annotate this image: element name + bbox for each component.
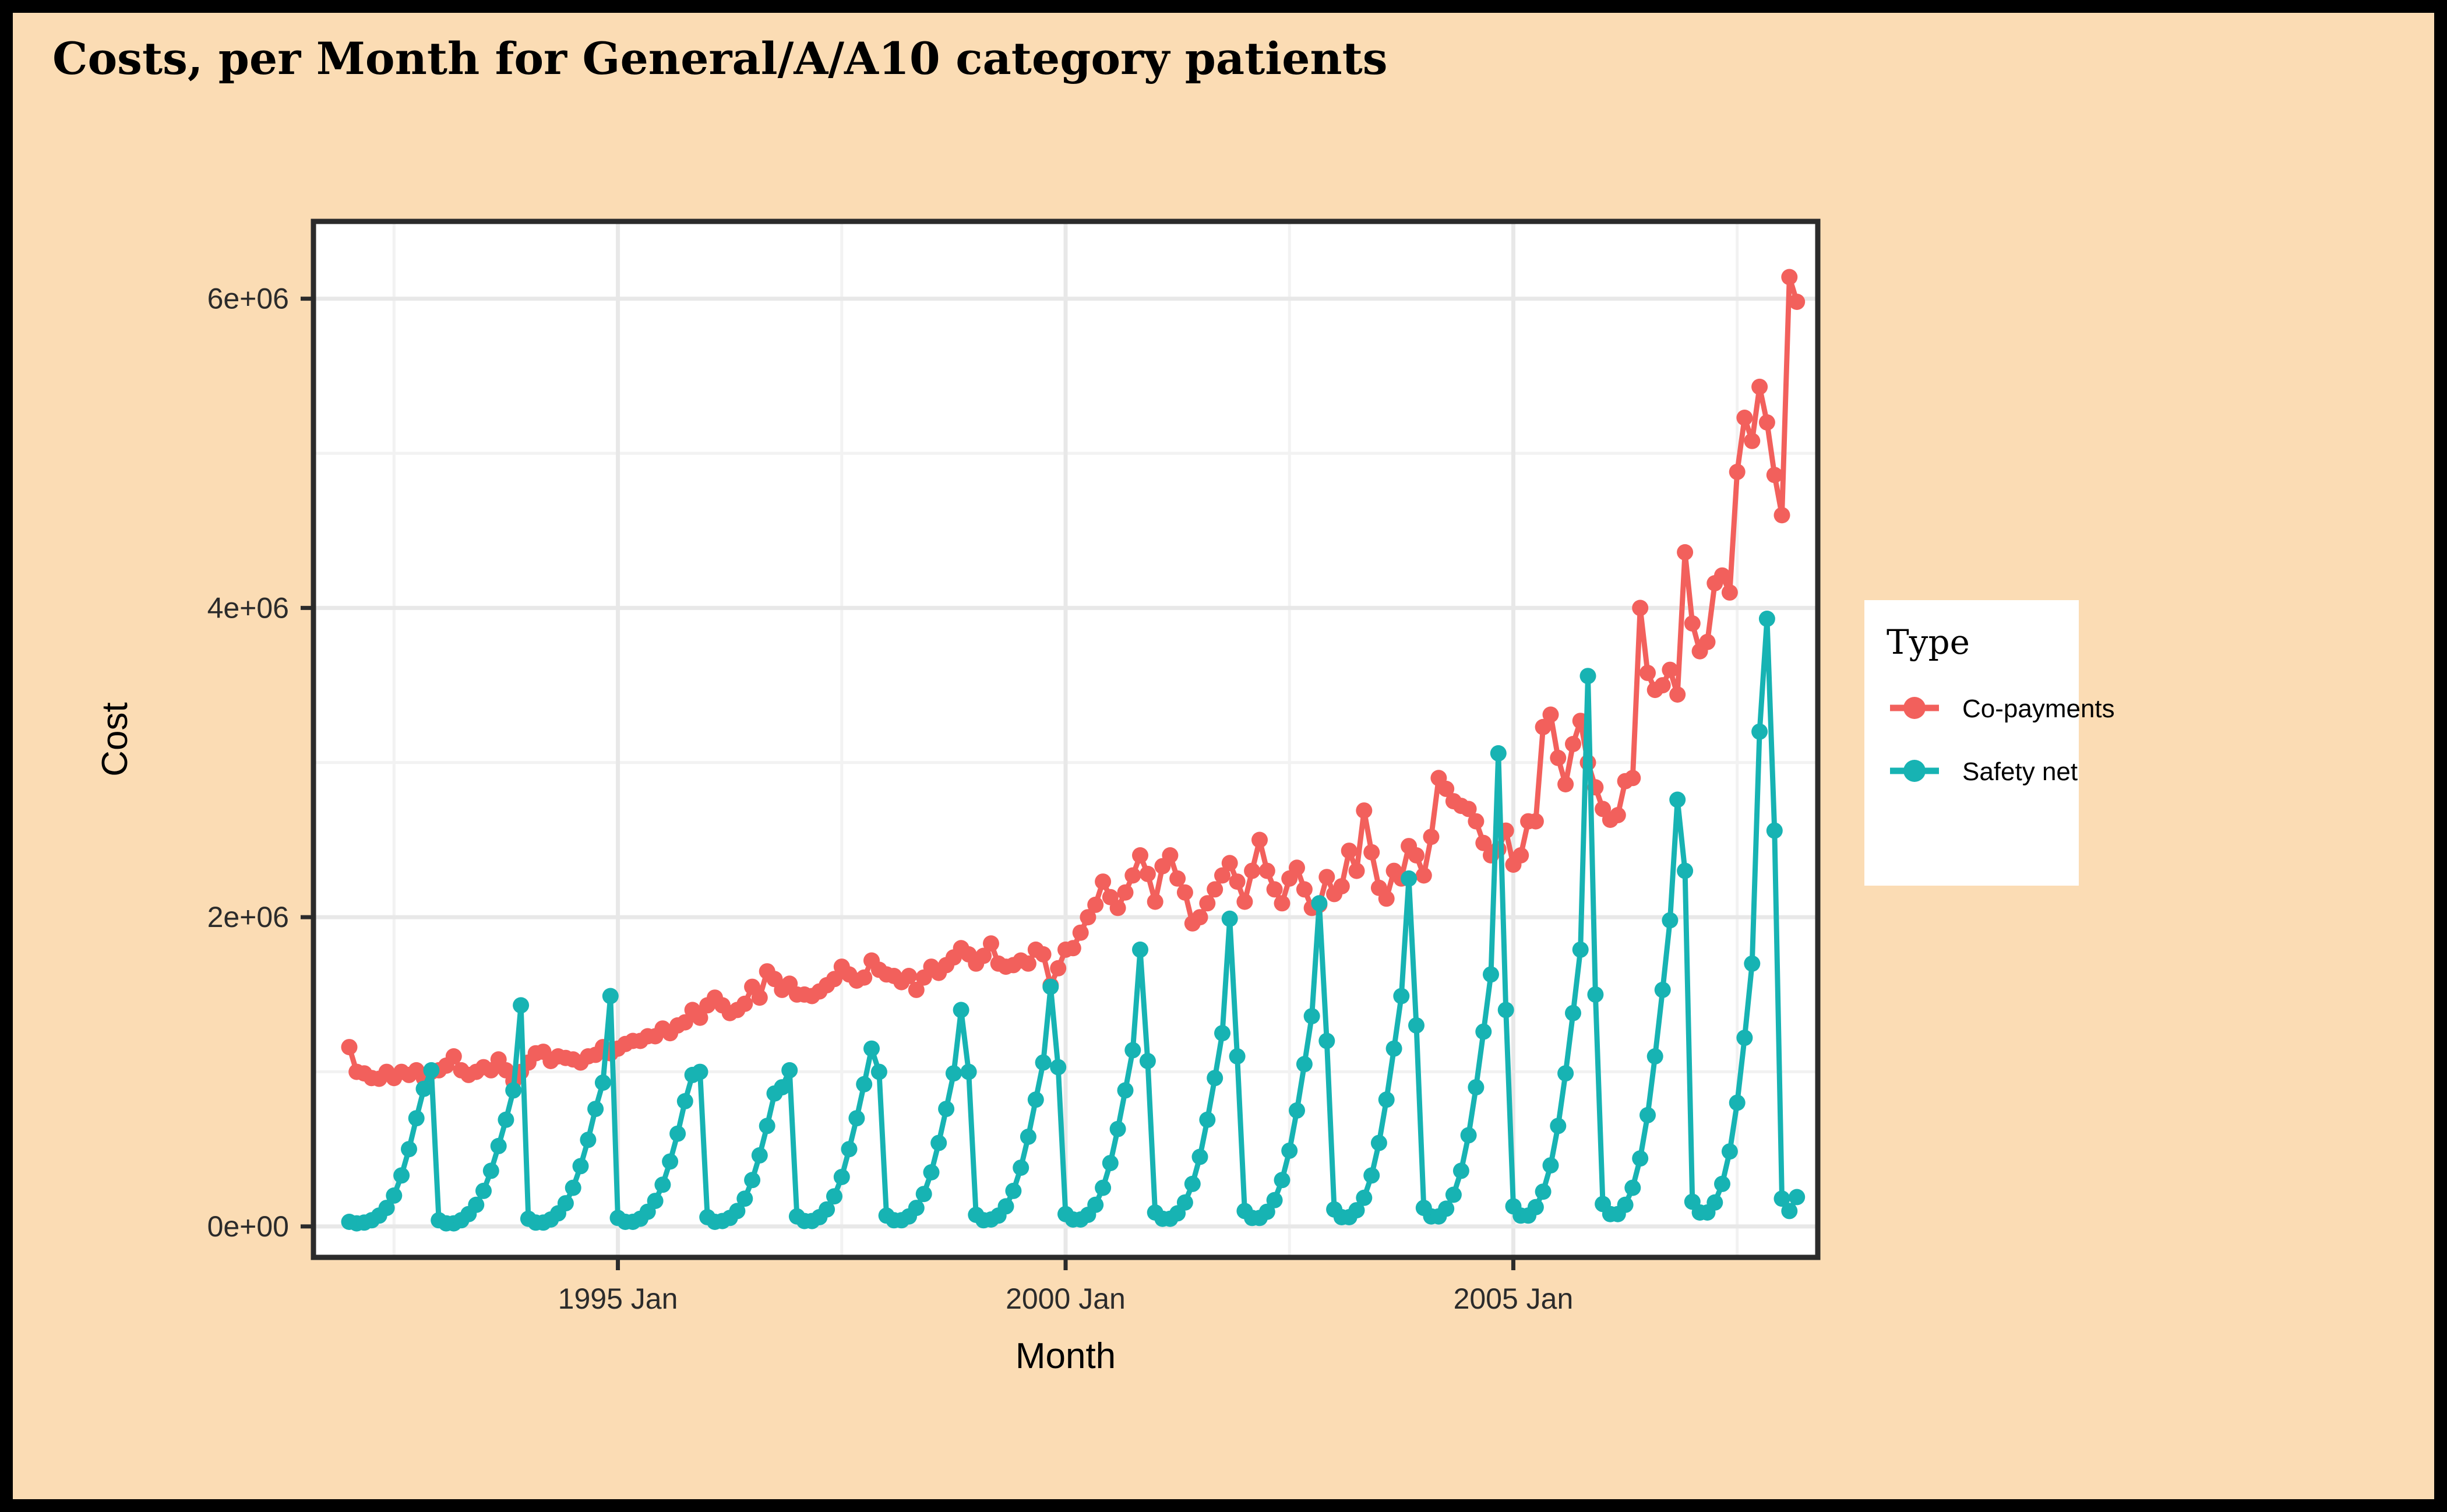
data-point <box>1073 925 1089 941</box>
data-point <box>1722 1143 1738 1159</box>
data-point <box>1356 1190 1372 1206</box>
data-point <box>446 1048 462 1065</box>
data-point <box>587 1101 604 1117</box>
data-point <box>1117 884 1134 901</box>
data-point <box>573 1158 589 1174</box>
data-point <box>1296 1056 1313 1072</box>
data-point <box>1729 464 1746 480</box>
data-point <box>834 1169 850 1185</box>
data-point <box>1655 677 1671 693</box>
data-point <box>1222 855 1238 871</box>
data-point <box>930 1135 947 1151</box>
data-point <box>1565 736 1581 752</box>
legend-item-label: Safety net <box>1962 757 2078 786</box>
data-point <box>468 1197 484 1213</box>
data-point <box>1587 986 1603 1003</box>
data-point <box>1095 1180 1111 1196</box>
data-point <box>1304 1008 1320 1024</box>
data-point <box>692 1064 708 1080</box>
data-point <box>1363 844 1380 861</box>
data-point <box>1311 895 1327 911</box>
data-point <box>662 1154 678 1170</box>
data-point <box>1236 894 1253 910</box>
data-point <box>1289 859 1305 876</box>
data-point <box>1706 1194 1723 1211</box>
data-point <box>580 1132 596 1148</box>
data-point <box>1065 940 1081 956</box>
data-point <box>1289 1102 1305 1119</box>
data-point <box>1453 1162 1469 1179</box>
data-point <box>595 1074 611 1091</box>
data-point <box>1557 1065 1574 1081</box>
x-axis-title: Month <box>1016 1336 1116 1376</box>
data-point <box>1117 1082 1134 1098</box>
data-point <box>491 1138 507 1154</box>
data-point <box>1624 770 1641 786</box>
data-point <box>759 1118 775 1134</box>
data-point <box>654 1176 671 1193</box>
data-point <box>1318 1033 1335 1049</box>
data-point <box>1371 1135 1387 1151</box>
data-point <box>1751 379 1768 395</box>
data-point <box>1617 1197 1634 1213</box>
data-point <box>1028 1091 1044 1108</box>
data-point <box>1259 863 1275 879</box>
data-point <box>416 1081 432 1097</box>
data-point <box>1229 873 1246 890</box>
data-point <box>752 1147 768 1164</box>
data-point <box>1774 507 1790 523</box>
data-point <box>1512 847 1529 864</box>
data-point <box>1789 1189 1805 1206</box>
data-point <box>1610 807 1626 823</box>
data-point <box>781 1062 798 1079</box>
data-point <box>736 996 753 1012</box>
data-point <box>1229 1048 1246 1065</box>
data-point <box>677 1093 693 1109</box>
data-point <box>1543 707 1559 723</box>
data-point <box>983 935 999 951</box>
data-point <box>774 1079 790 1095</box>
data-point <box>1423 829 1440 845</box>
data-point <box>1483 966 1499 982</box>
data-point <box>1318 869 1335 885</box>
data-point <box>1714 568 1730 584</box>
data-point <box>1550 750 1566 766</box>
data-point <box>483 1162 499 1179</box>
data-point <box>901 968 917 984</box>
data-point <box>1363 1167 1380 1183</box>
x-axis: 1995 Jan2000 Jan2005 Jan <box>558 1257 1574 1315</box>
data-point <box>863 1041 880 1057</box>
data-point <box>1669 792 1686 808</box>
y-tick-label: 4e+06 <box>207 591 289 624</box>
y-tick-label: 0e+00 <box>207 1210 289 1243</box>
data-point <box>1528 813 1544 830</box>
data-point <box>744 1172 760 1188</box>
data-point <box>1408 847 1425 864</box>
data-point <box>1050 960 1066 977</box>
data-point <box>386 1187 402 1204</box>
data-point <box>1095 873 1111 890</box>
data-point <box>1296 881 1313 897</box>
x-tick-label: 1995 Jan <box>558 1282 678 1315</box>
data-point <box>1677 863 1693 879</box>
data-point <box>1132 847 1148 864</box>
data-point <box>1378 1091 1395 1108</box>
data-point <box>1677 544 1693 561</box>
data-point <box>1349 863 1365 879</box>
data-point <box>1684 615 1701 632</box>
data-point <box>736 1190 753 1207</box>
data-point <box>1639 665 1656 681</box>
data-point <box>475 1183 492 1199</box>
data-point <box>1132 942 1148 958</box>
data-point <box>1214 1025 1230 1041</box>
data-point <box>1110 1121 1126 1137</box>
y-axis-title: Cost <box>95 702 135 776</box>
data-point <box>558 1195 574 1211</box>
data-point <box>505 1082 521 1098</box>
data-point <box>1267 1192 1283 1208</box>
data-point <box>1177 1194 1193 1211</box>
data-point <box>669 1126 686 1142</box>
data-point <box>1550 1118 1566 1134</box>
data-point <box>1035 946 1052 963</box>
data-point <box>908 1200 925 1216</box>
data-point <box>856 970 872 986</box>
data-point <box>1572 942 1589 958</box>
data-point <box>1445 1187 1462 1203</box>
data-point <box>1759 414 1775 431</box>
data-point <box>498 1112 514 1128</box>
data-point <box>602 988 619 1005</box>
data-point <box>1759 611 1775 627</box>
data-point <box>1124 868 1141 884</box>
data-point <box>341 1039 358 1055</box>
data-point <box>1565 1005 1581 1021</box>
data-point <box>1535 1183 1552 1200</box>
data-point <box>841 1141 858 1157</box>
data-point <box>1647 1048 1663 1065</box>
data-point <box>923 1164 940 1180</box>
data-point <box>1192 1149 1208 1165</box>
data-point <box>961 1064 977 1080</box>
legend-key-dot <box>1903 697 1926 719</box>
x-tick-label: 2005 Jan <box>1454 1282 1574 1315</box>
data-point <box>1207 881 1223 897</box>
data-point <box>1669 686 1686 703</box>
data-point <box>1334 878 1350 894</box>
data-point <box>1714 1176 1730 1192</box>
data-point <box>1475 1024 1492 1040</box>
data-point <box>1461 1127 1477 1143</box>
data-point <box>1498 1002 1514 1018</box>
data-point <box>1781 1203 1797 1219</box>
y-axis: 0e+002e+064e+066e+06 <box>207 283 313 1243</box>
data-point <box>1655 982 1671 998</box>
data-point <box>1393 988 1409 1005</box>
data-point <box>1736 1030 1753 1046</box>
data-point <box>565 1180 581 1196</box>
data-point <box>1035 1055 1052 1071</box>
data-point <box>938 1101 954 1117</box>
data-point <box>1386 1041 1402 1057</box>
data-point <box>871 1064 887 1080</box>
data-point <box>1468 1079 1484 1095</box>
page-frame: Costs, per Month for General/A/A10 categ… <box>13 13 2434 1499</box>
data-point <box>1543 1157 1559 1173</box>
data-point <box>1789 294 1805 310</box>
data-point <box>1005 1183 1021 1199</box>
data-point <box>1662 912 1678 929</box>
data-point <box>1281 1143 1297 1159</box>
data-point <box>1528 1199 1544 1215</box>
data-point <box>826 1188 842 1204</box>
data-point <box>1624 1180 1641 1196</box>
data-point <box>1468 813 1484 830</box>
data-point <box>1267 881 1283 897</box>
data-point <box>1722 584 1738 601</box>
data-point <box>1050 1059 1066 1076</box>
data-point <box>1632 600 1648 616</box>
data-point <box>1087 1197 1103 1213</box>
page-title: Costs, per Month for General/A/A10 categ… <box>52 33 1388 84</box>
data-point <box>1781 269 1797 286</box>
cost-per-month-line-chart: Costs, per Month for General/A/A10 categ… <box>13 13 2434 1499</box>
legend-title: Type <box>1887 622 1970 662</box>
data-point <box>1184 1176 1201 1192</box>
data-point <box>1341 843 1358 859</box>
y-tick-label: 6e+06 <box>207 283 289 315</box>
data-point <box>1736 410 1753 426</box>
data-point <box>752 989 768 1006</box>
data-point <box>1124 1042 1141 1058</box>
data-point <box>1356 802 1372 819</box>
data-point <box>1416 868 1432 884</box>
data-point <box>1378 890 1395 907</box>
legend-key-dot <box>1903 760 1926 782</box>
data-point <box>1042 979 1059 995</box>
data-point <box>647 1193 664 1209</box>
data-point <box>1251 832 1268 848</box>
data-point <box>408 1110 425 1126</box>
data-point <box>393 1167 410 1183</box>
data-point <box>1699 634 1716 650</box>
data-point <box>1147 894 1163 910</box>
x-tick-label: 2000 Jan <box>1006 1282 1126 1315</box>
data-point <box>1408 1017 1425 1034</box>
data-point <box>1729 1095 1746 1111</box>
data-point <box>1020 1129 1036 1145</box>
data-point <box>1222 911 1238 927</box>
data-point <box>916 1186 932 1202</box>
data-point <box>946 1065 962 1081</box>
data-point <box>1401 870 1417 887</box>
data-point <box>1199 1112 1215 1128</box>
data-point <box>953 1002 969 1018</box>
data-point <box>1087 897 1103 913</box>
data-point <box>1274 1172 1291 1188</box>
data-point <box>1244 863 1260 879</box>
data-point <box>1192 909 1208 925</box>
legend-item-label: Co-payments <box>1962 695 2115 723</box>
legend[interactable]: Type Co-paymentsSafety net <box>1864 600 2115 886</box>
data-point <box>1767 823 1783 839</box>
data-point <box>1162 847 1178 864</box>
data-point <box>856 1076 872 1092</box>
data-point <box>1013 1159 1029 1176</box>
data-point <box>1110 900 1126 916</box>
data-point <box>1751 724 1768 740</box>
data-point <box>1140 1053 1156 1069</box>
y-tick-label: 2e+06 <box>207 901 289 933</box>
data-point <box>1744 956 1760 972</box>
data-point <box>1102 1155 1119 1171</box>
data-point <box>423 1062 439 1079</box>
data-point <box>1744 433 1760 449</box>
data-point <box>1199 895 1215 911</box>
data-point <box>1490 745 1507 762</box>
data-point <box>1020 956 1036 972</box>
data-point <box>1169 870 1186 887</box>
data-point <box>513 997 529 1013</box>
data-point <box>1274 895 1291 911</box>
data-point <box>1662 662 1678 678</box>
data-point <box>1557 776 1574 792</box>
data-point <box>1632 1150 1648 1166</box>
data-point <box>1177 884 1193 901</box>
data-point <box>1207 1070 1223 1086</box>
data-point <box>848 1110 865 1126</box>
data-point <box>1140 866 1156 882</box>
data-point <box>401 1141 417 1157</box>
data-point <box>1438 1200 1454 1217</box>
data-point <box>998 1198 1014 1214</box>
data-point <box>1639 1107 1656 1123</box>
data-point <box>1767 467 1783 483</box>
chart-container: Costs, per Month for General/A/A10 categ… <box>13 13 2434 1499</box>
data-point <box>1580 668 1596 684</box>
